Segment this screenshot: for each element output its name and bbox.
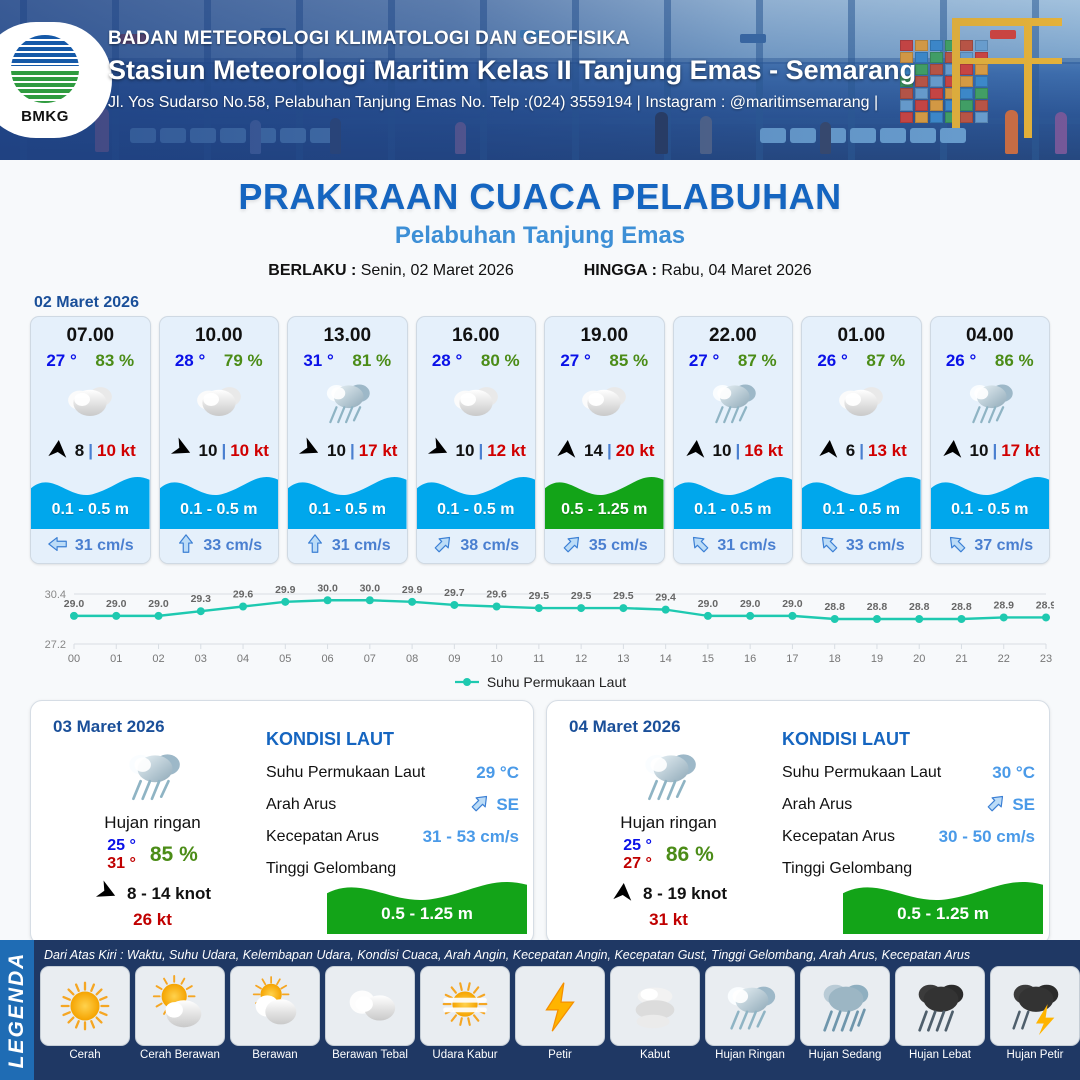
wave-height-value: 0.1 - 0.5 m [802,501,921,519]
wind-speed: 14 [584,441,603,461]
wave-height-block: 0.1 - 0.5 m [160,469,279,529]
hourly-card[interactable]: 07.00 27 ° 83 % 8 | 10 kt [30,316,151,564]
sea-row-label: Kecepatan Arus [266,828,379,846]
panel-gust: 31 kt [561,910,776,930]
wind-speed: 6 [846,441,855,461]
current-speed: 31 cm/s [332,537,391,555]
legend-hujan-lebat-icon [895,966,985,1046]
panel-wind-range: 8 - 19 knot [643,884,727,904]
svg-text:29.6: 29.6 [486,589,507,601]
current-direction-arrow-icon [47,533,69,560]
svg-text:13: 13 [617,653,629,665]
legend-hujan-petir-icon [990,966,1080,1046]
legend-hujan-sedang-icon [800,966,890,1046]
panel-temp-max: 27 ° [623,855,652,872]
legend-item: Hujan Ringan [705,966,795,1061]
gust-speed: 10 kt [230,441,269,461]
page-subtitle: Pelabuhan Tanjung Emas [0,222,1080,250]
legend-petir-icon [515,966,605,1046]
weather-berawan-icon [160,371,279,433]
svg-text:29.4: 29.4 [655,592,676,604]
sea-row-value: 30 - 50 cm/s [939,827,1035,847]
sea-row-label: Suhu Permukaan Laut [266,764,425,782]
card-time: 22.00 [674,317,793,347]
svg-text:22: 22 [998,653,1010,665]
svg-text:01: 01 [110,653,122,665]
svg-text:20: 20 [913,653,925,665]
legend-item: Cerah Berawan [135,966,225,1061]
wave-height-value: 0.1 - 0.5 m [417,501,536,519]
weather-berawan-icon [31,371,150,433]
gust-speed: 17 kt [359,441,398,461]
wind-direction-arrow-icon [554,439,580,464]
current-speed: 38 cm/s [460,537,519,555]
daily-panel[interactable]: 03 Maret 2026 Hujan ringan 25 ° 31 ° [30,700,534,945]
wind-direction-arrow-icon [45,439,71,464]
svg-text:12: 12 [575,653,587,665]
panel-wave-value: 0.5 - 1.25 m [843,904,1043,924]
hourly-card[interactable]: 04.00 26 ° 86 % 10 | 17 [930,316,1051,564]
svg-text:29.0: 29.0 [698,598,719,610]
weather-hujan-ringan-icon [288,371,407,433]
gust-speed: 10 kt [97,441,136,461]
logo-text: BMKG [3,108,87,125]
svg-text:29.5: 29.5 [571,590,592,602]
svg-text:28.8: 28.8 [867,601,888,613]
sea-condition-title: KONDISI LAUT [266,729,519,750]
svg-text:10: 10 [490,653,502,665]
svg-text:08: 08 [406,653,418,665]
legend-item-label: Hujan Lebat [895,1049,985,1061]
sea-row-label: Kecepatan Arus [782,828,895,846]
wind-speed: 10 [199,441,218,461]
svg-text:07: 07 [364,653,376,665]
card-time: 01.00 [802,317,921,347]
panel-humidity: 85 % [150,843,198,867]
legend-item-label: Petir [515,1049,605,1061]
svg-text:21: 21 [955,653,967,665]
wave-height-block: 0.1 - 0.5 m [417,469,536,529]
station-name: Stasiun Meteorologi Maritim Kelas II Tan… [108,55,916,86]
station-address: Jl. Yos Sudarso No.58, Pelabuhan Tanjung… [108,94,916,112]
card-time: 07.00 [31,317,150,347]
svg-text:28.9: 28.9 [1036,599,1054,611]
valid-from-label: BERLAKU : [268,262,356,279]
gust-speed: 13 kt [868,441,907,461]
current-speed: 35 cm/s [589,537,648,555]
legend-item: Petir [515,966,605,1061]
valid-from-value: Senin, 02 Maret 2026 [361,262,514,279]
legend-item: Udara Kabur [420,966,510,1061]
card-humidity: 80 % [481,351,520,371]
wave-height-block: 0.5 - 1.25 m [545,469,664,529]
sea-row-label: Arah Arus [266,796,336,814]
legend-item-label: Udara Kabur [420,1049,510,1061]
wind-speed: 10 [456,441,475,461]
svg-text:28.8: 28.8 [951,601,972,613]
wave-height-block: 0.1 - 0.5 m [674,469,793,529]
chart-legend: Suhu Permukaan Laut [0,674,1080,690]
svg-text:19: 19 [871,653,883,665]
sea-row-label: Suhu Permukaan Laut [782,764,941,782]
current-direction-arrow-icon [985,792,1007,819]
svg-text:29.5: 29.5 [613,590,634,602]
legend-cerah-berawan-icon [135,966,225,1046]
gust-speed: 12 kt [487,441,526,461]
legend-item: Kabut [610,966,700,1061]
wave-height-value: 0.1 - 0.5 m [160,501,279,519]
sea-condition-title: KONDISI LAUT [782,729,1035,750]
agency-name: BADAN METEOROLOGI KLIMATOLOGI DAN GEOFIS… [108,28,916,50]
legend-item-label: Berawan [230,1049,320,1061]
svg-text:30.0: 30.0 [317,582,338,594]
wind-direction-arrow-icon [169,439,195,464]
card-humidity: 85 % [609,351,648,371]
hourly-card[interactable]: 16.00 28 ° 80 % 10 | 12 kt [416,316,537,564]
card-humidity: 86 % [995,351,1034,371]
svg-text:29.0: 29.0 [64,598,85,610]
weather-hujan-ringan-icon [561,741,776,809]
sea-row-value: 29 °C [476,763,519,783]
hourly-date-label: 02 Maret 2026 [34,294,1080,312]
wind-separator: | [607,441,612,461]
current-direction-arrow-icon [304,533,326,560]
card-humidity: 87 % [866,351,905,371]
panel-temp-min: 25 ° [623,837,652,854]
sea-row-value: 30 °C [992,763,1035,783]
card-temperature: 27 ° [46,351,76,371]
legend-note: Dari Atas Kiri : Waktu, Suhu Udara, Kele… [40,944,1080,966]
legend-item: Hujan Sedang [800,966,890,1061]
wave-height-block: 0.1 - 0.5 m [288,469,407,529]
current-speed: 33 cm/s [203,537,262,555]
legend-item-label: Cerah [40,1049,130,1061]
wave-height-value: 0.5 - 1.25 m [545,501,664,519]
svg-text:29.0: 29.0 [106,598,127,610]
wind-direction-arrow-icon [683,439,709,464]
svg-text:29.5: 29.5 [529,590,550,602]
hourly-card[interactable]: 22.00 27 ° 87 % 10 | 16 [673,316,794,564]
sst-chart: 30.427.200010203040506070809101112131415… [26,572,1054,672]
card-time: 10.00 [160,317,279,347]
daily-panel[interactable]: 04 Maret 2026 Hujan ringan 25 ° 27 ° [546,700,1050,945]
weather-hujan-ringan-icon [931,371,1050,433]
weather-hujan-ringan-icon [674,371,793,433]
svg-text:30.4: 30.4 [45,589,66,601]
panel-wave-block: 0.5 - 1.25 m [843,862,1043,934]
current-direction-arrow-icon [175,533,197,560]
legend-footer: LEGENDA Dari Atas Kiri : Waktu, Suhu Uda… [0,940,1080,1080]
page-title: PRAKIRAAN CUACA PELABUHAN [0,176,1080,218]
wind-separator: | [88,441,93,461]
panel-wave-block: 0.5 - 1.25 m [327,862,527,934]
gust-speed: 20 kt [616,441,655,461]
wind-separator: | [221,441,226,461]
legend-udara-kabur-icon [420,966,510,1046]
legend-item-label: Cerah Berawan [135,1049,225,1061]
sea-row-value: 31 - 53 cm/s [423,827,519,847]
card-temperature: 28 ° [175,351,205,371]
gust-speed: 17 kt [1001,441,1040,461]
wind-speed: 10 [713,441,732,461]
svg-text:29.0: 29.0 [740,598,761,610]
svg-text:03: 03 [195,653,207,665]
hourly-card[interactable]: 10.00 28 ° 79 % 10 | 10 kt [159,316,280,564]
weather-hujan-ringan-icon [45,741,260,809]
panel-date: 04 Maret 2026 [569,717,681,737]
legend-hujan-ringan-icon [705,966,795,1046]
weather-berawan-icon [545,371,664,433]
svg-text:16: 16 [744,653,756,665]
bmkg-logo: BMKG [0,22,112,138]
wind-direction-arrow-icon [426,439,452,464]
panel-humidity: 86 % [666,843,714,867]
weather-berawan-icon [802,371,921,433]
legend-title: LEGENDA [5,952,29,1069]
card-humidity: 87 % [738,351,777,371]
svg-text:29.0: 29.0 [782,598,803,610]
wind-direction-arrow-icon [940,439,966,464]
legend-item-label: Hujan Sedang [800,1049,890,1061]
daily-forecast-panels: 03 Maret 2026 Hujan ringan 25 ° 31 ° [0,690,1080,945]
hourly-card[interactable]: 13.00 31 ° 81 % 10 | 17 [287,316,408,564]
svg-text:27.2: 27.2 [45,639,66,651]
svg-text:18: 18 [829,653,841,665]
svg-text:14: 14 [660,653,672,665]
sea-row-label: Arah Arus [782,796,852,814]
current-direction-arrow-icon [818,533,840,560]
card-temperature: 26 ° [946,351,976,371]
card-temperature: 31 ° [303,351,333,371]
wave-height-block: 0.1 - 0.5 m [802,469,921,529]
weather-berawan-icon [417,371,536,433]
valid-to-label: HINGGA : [584,262,657,279]
legend-item-label: Kabut [610,1049,700,1061]
chart-legend-label: Suhu Permukaan Laut [487,674,626,690]
sea-row-value: SE [496,795,519,815]
panel-gust: 26 kt [45,910,260,930]
card-humidity: 79 % [224,351,263,371]
current-speed: 33 cm/s [846,537,905,555]
wind-separator: | [478,441,483,461]
legend-item: Berawan [230,966,320,1061]
wave-height-value: 0.1 - 0.5 m [288,501,407,519]
wind-direction-arrow-icon [610,882,636,907]
panel-wave-value: 0.5 - 1.25 m [327,904,527,924]
wave-height-block: 0.1 - 0.5 m [31,469,150,529]
hourly-card[interactable]: 19.00 27 ° 85 % 14 | 20 kt [544,316,665,564]
svg-text:29.9: 29.9 [402,584,423,596]
card-time: 19.00 [545,317,664,347]
svg-text:05: 05 [279,653,291,665]
svg-text:09: 09 [448,653,460,665]
current-direction-arrow-icon [561,533,583,560]
svg-text:29.7: 29.7 [444,587,465,599]
svg-text:15: 15 [702,653,714,665]
legend-sidebar: LEGENDA [0,940,34,1080]
hourly-forecast-cards: 07.00 27 ° 83 % 8 | 10 kt [0,316,1080,564]
legend-kabut-icon [610,966,700,1046]
svg-text:00: 00 [68,653,80,665]
legend-item: Hujan Lebat [895,966,985,1061]
svg-text:28.8: 28.8 [909,601,930,613]
card-humidity: 81 % [352,351,391,371]
svg-text:28.9: 28.9 [994,599,1015,611]
svg-text:29.3: 29.3 [191,593,212,605]
card-temperature: 27 ° [560,351,590,371]
legend-cerah-icon [40,966,130,1046]
legend-item: Berawan Tebal [325,966,415,1061]
card-temperature: 27 ° [689,351,719,371]
svg-text:17: 17 [786,653,798,665]
wind-speed: 10 [970,441,989,461]
wind-speed: 10 [327,441,346,461]
wind-separator: | [859,441,864,461]
wave-height-value: 0.1 - 0.5 m [31,501,150,519]
panel-condition: Hujan ringan [561,813,776,833]
current-direction-arrow-icon [946,533,968,560]
panel-wind-range: 8 - 14 knot [127,884,211,904]
svg-text:02: 02 [152,653,164,665]
card-humidity: 83 % [95,351,134,371]
panel-temp-max: 31 ° [107,855,136,872]
logo-circle-icon [11,35,79,103]
legend-items: Cerah Cerah Berawan Berawan [40,966,1080,1061]
panel-temp-min: 25 ° [107,837,136,854]
page-header: BMKG BADAN METEOROLOGI KLIMATOLOGI DAN G… [0,0,1080,160]
wind-separator: | [350,441,355,461]
gust-speed: 16 kt [744,441,783,461]
svg-text:29.0: 29.0 [148,598,169,610]
wind-direction-arrow-icon [297,439,323,464]
wind-speed: 8 [75,441,84,461]
current-speed: 31 cm/s [717,537,776,555]
current-speed: 31 cm/s [75,537,134,555]
hourly-card[interactable]: 01.00 26 ° 87 % 6 | 13 kt [801,316,922,564]
legend-item: Hujan Petir [990,966,1080,1061]
legend-berawan-legend-icon [230,966,320,1046]
wave-height-value: 0.1 - 0.5 m [674,501,793,519]
card-time: 16.00 [417,317,536,347]
card-time: 13.00 [288,317,407,347]
panel-date: 03 Maret 2026 [53,717,165,737]
wind-direction-arrow-icon [816,439,842,464]
card-time: 04.00 [931,317,1050,347]
svg-text:30.0: 30.0 [360,582,381,594]
svg-text:11: 11 [533,653,544,665]
current-direction-arrow-icon [689,533,711,560]
valid-to-value: Rabu, 04 Maret 2026 [661,262,811,279]
svg-text:29.9: 29.9 [275,584,296,596]
wave-height-block: 0.1 - 0.5 m [931,469,1050,529]
legend-berawan-tebal-icon [325,966,415,1046]
wind-separator: | [992,441,997,461]
card-temperature: 28 ° [432,351,462,371]
current-speed: 37 cm/s [974,537,1033,555]
legend-item-label: Berawan Tebal [325,1049,415,1061]
svg-text:28.8: 28.8 [824,601,845,613]
wind-direction-arrow-icon [94,882,120,907]
legend-item-label: Hujan Ringan [705,1049,795,1061]
legend-marker-icon [454,676,480,688]
svg-text:04: 04 [237,653,249,665]
wind-separator: | [735,441,740,461]
svg-text:29.6: 29.6 [233,589,254,601]
card-temperature: 26 ° [817,351,847,371]
sea-row-value: SE [1012,795,1035,815]
svg-text:23: 23 [1040,653,1052,665]
validity-row: BERLAKU : Senin, 02 Maret 2026 HINGGA : … [0,262,1080,280]
current-direction-arrow-icon [432,533,454,560]
wave-height-value: 0.1 - 0.5 m [931,501,1050,519]
legend-item: Cerah [40,966,130,1061]
svg-text:06: 06 [321,653,333,665]
panel-condition: Hujan ringan [45,813,260,833]
current-direction-arrow-icon [469,792,491,819]
legend-item-label: Hujan Petir [990,1049,1080,1061]
